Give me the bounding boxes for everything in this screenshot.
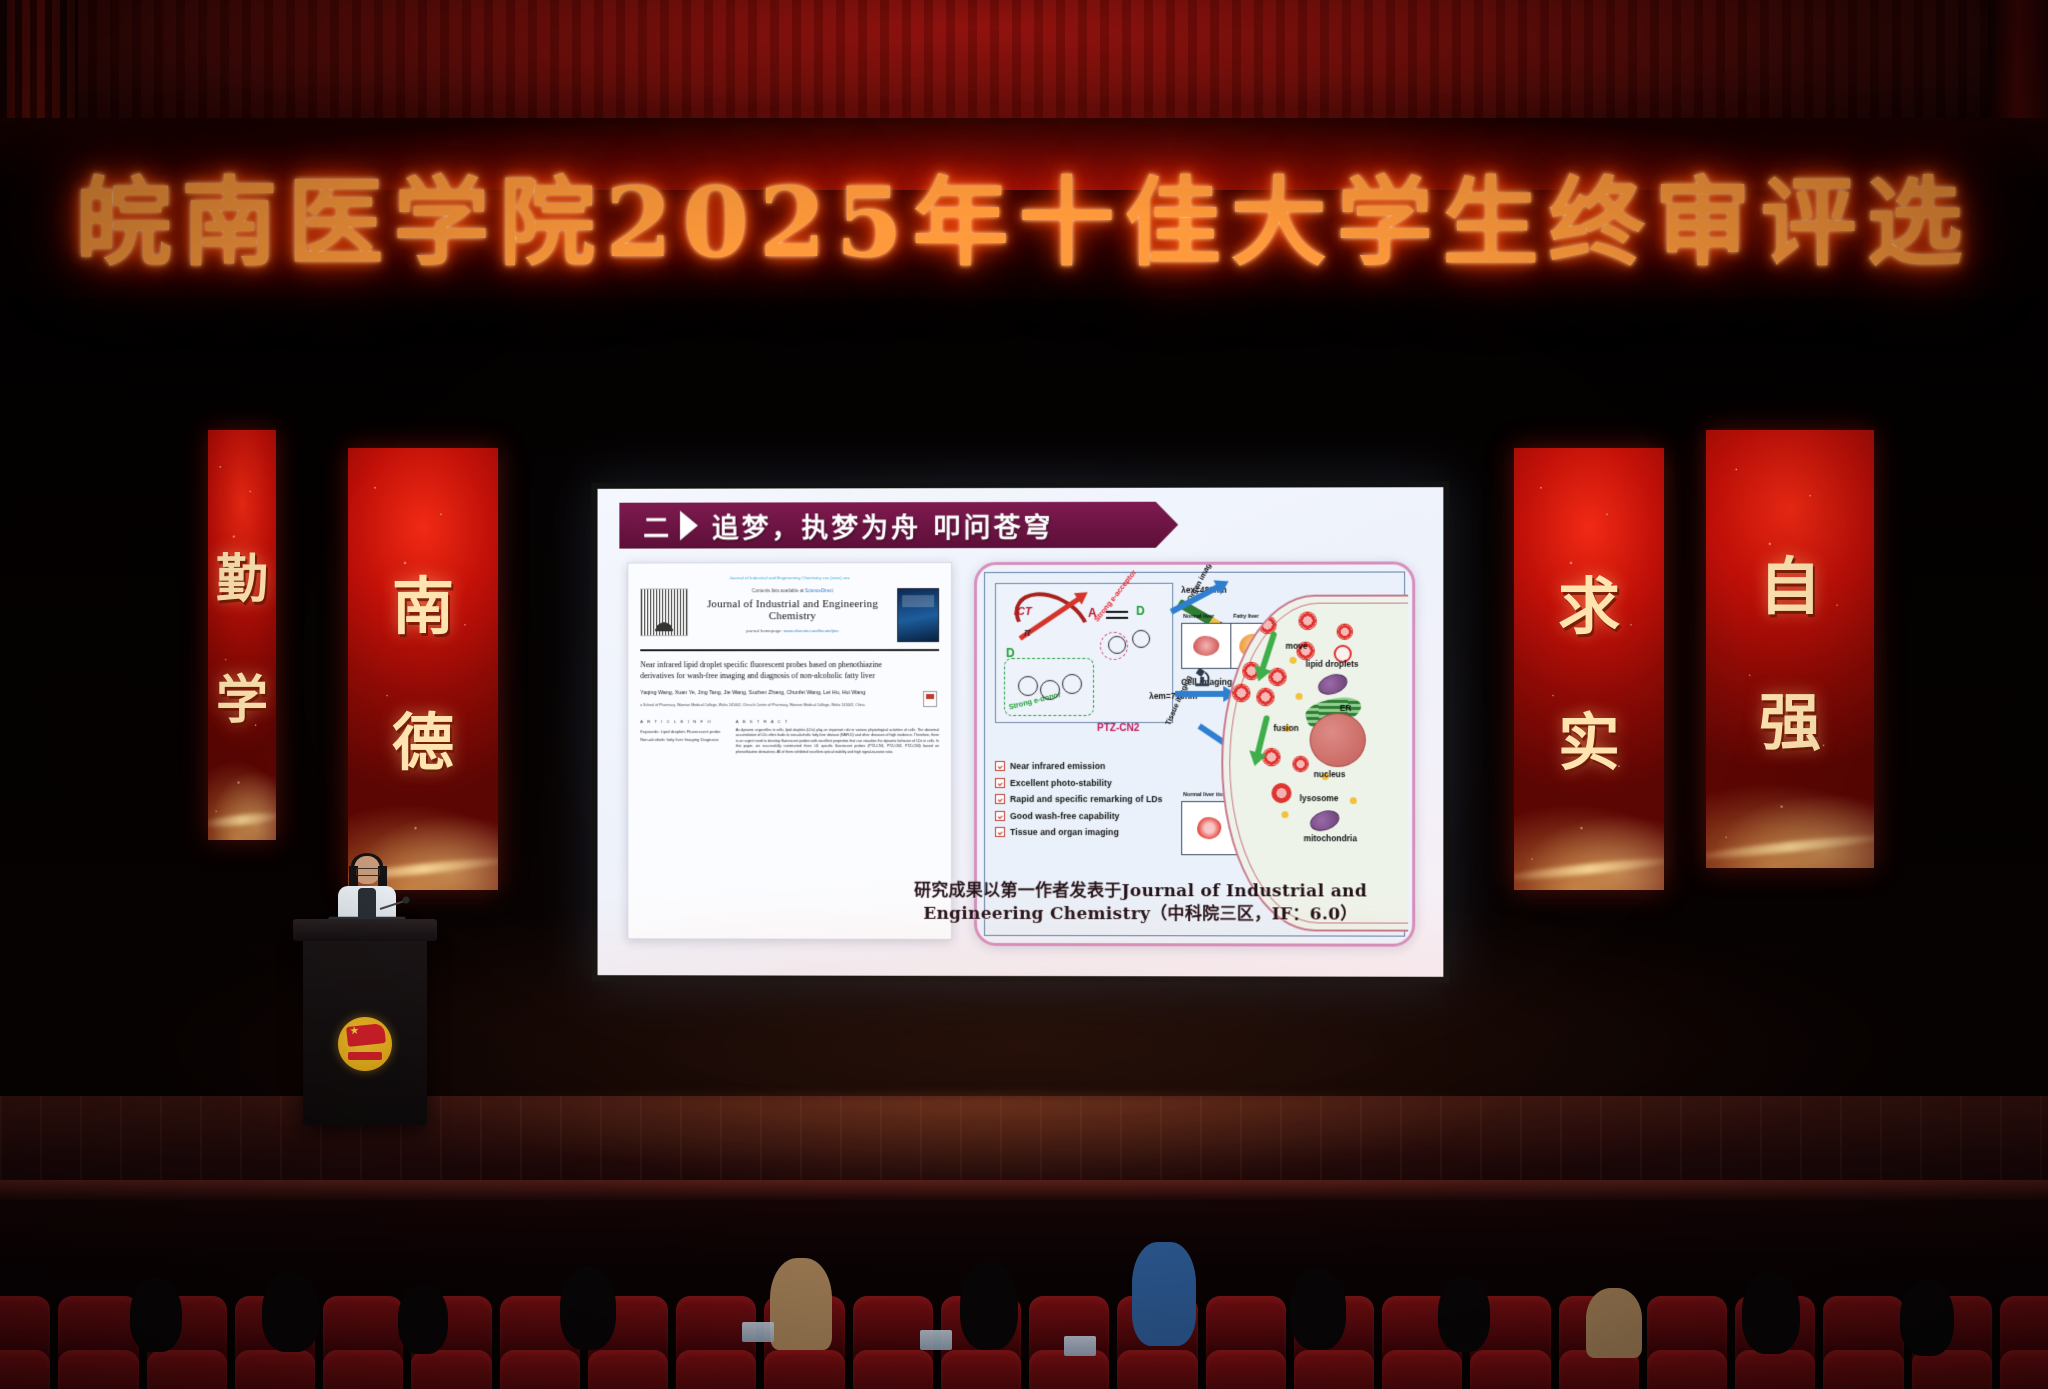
glasses-icon [356,868,380,876]
lysosome-label: lysosome [1300,793,1339,803]
checkbox-icon [995,794,1005,804]
move-label: move [1286,641,1308,651]
seat [58,1350,138,1389]
audience-head [1900,1280,1954,1356]
section-number: 二 [643,507,670,544]
seat [1735,1350,1815,1389]
vesicle-dot-icon [1281,811,1288,818]
audience-head [1742,1272,1800,1354]
led-banner: 皖南医学院2025年十佳大学生终审评选 [0,118,2048,298]
vesicle-dot-icon [1350,797,1357,804]
caption-line-1: 研究成果以第一作者发表于Journal of Industrial and [870,880,1411,904]
seat [235,1350,315,1389]
seat [853,1350,933,1389]
checklist-label: Rapid and specific remarking of LDs [1010,794,1163,804]
seat [323,1350,403,1389]
lipid-droplet-icon [1269,669,1285,685]
audience-head [262,1272,320,1352]
side-panel-left-outer: 勤 学 [208,430,276,840]
paper-divider [640,649,939,651]
available-prefix: Contents lists available at [752,588,804,593]
paper-keywords: Keywords: Lipid droplets Fluorescent pro… [640,728,726,743]
seat [1294,1350,1374,1389]
aromatic-ring-icon [1062,674,1082,694]
checkbox-icon [995,827,1005,837]
panel-char: 南 [392,556,454,646]
masthead-center: Contents lists available at ScienceDirec… [696,588,889,633]
donor-right-label: D [1136,604,1145,618]
side-panel-right-outer: 自 强 [1706,430,1874,868]
checklist-item: Excellent photo-stability [995,777,1203,787]
panel-char: 学 [216,658,268,733]
fusion-label: fusion [1273,723,1298,733]
aromatic-ring-icon [1018,676,1038,696]
seat [500,1350,580,1389]
side-panel-left-inner: 南 德 [348,448,498,890]
ict-label: ICT [1014,606,1032,618]
cell-imaging-arrow-icon [1175,691,1227,697]
checklist-label: Good wash-free capability [1010,810,1120,820]
mitochondria-label: mitochondria [1304,833,1357,843]
checkbox-icon [995,810,1005,820]
aromatic-ring-icon [1040,680,1060,700]
vesicle-dot-icon [1290,657,1297,664]
podium [303,935,427,1125]
mitochondria-icon [1315,671,1350,698]
journal-logo-icon [640,588,688,636]
panel-char: 自 [1759,536,1821,626]
aromatic-ring-icon [1108,636,1126,654]
seat [2000,1350,2048,1389]
panel-char: 强 [1759,672,1821,762]
abstract-heading: A B S T R A C T [736,719,939,724]
paper-affiliations: a School of Pharmacy, Wannan Medical Col… [640,703,939,709]
seat [1823,1350,1903,1389]
seat [764,1350,844,1389]
audience-head [560,1266,616,1350]
section-title: 追梦，执梦为舟 叩问苍穹 [712,505,1054,545]
seat [676,1350,756,1389]
youth-league-emblem-icon [338,1017,392,1071]
feature-checklist: Near infrared emission Excellent photo-s… [995,761,1203,844]
audience-head [960,1262,1018,1350]
chevron-right-icon [680,511,698,541]
audience-head [1290,1268,1346,1350]
audience-laptop-screen [742,1322,774,1342]
lipid-droplet-icon [1300,613,1316,629]
audience-laptop-screen [1064,1336,1096,1356]
sciencedirect-link: ScienceDirect [805,588,833,593]
liver-blob [1193,636,1219,656]
audience-head [398,1284,448,1354]
panel-characters: 勤 学 [208,430,276,840]
seat [1117,1350,1197,1389]
podium-top-surface [293,919,437,941]
mitochondria-icon [1307,807,1342,834]
audience-laptop-screen [920,1330,952,1350]
paper-masthead: Contents lists available at ScienceDirec… [640,588,939,642]
contents-available-line: Contents lists available at ScienceDirec… [696,588,889,593]
nucleus-label: nucleus [1314,769,1346,779]
lipid-droplets-label: lipid droplets [1306,659,1359,669]
journal-homepage-line: journal homepage: www.elsevier.com/locat… [696,628,889,633]
seat [1382,1350,1462,1389]
double-bond-icon [1106,611,1128,619]
audience-head [770,1258,832,1350]
homepage-prefix: journal homepage: [746,628,782,633]
nucleus-icon [1310,713,1366,767]
paper-columns: A R T I C L E I N F O Keywords: Lipid dr… [640,719,939,755]
seat [0,1350,50,1389]
checklist-item: Tissue and organ imaging [995,827,1203,837]
presentation-slide: 二 追梦，执梦为舟 叩问苍穹 Journal of Industrial and… [598,487,1444,977]
er-label: ER [1340,703,1352,713]
panel-characters: 南 德 [348,448,498,890]
fatty-liver-label: Fatty liver [1233,614,1259,620]
checklist-item: Near infrared emission [995,761,1203,771]
checkbox-icon [995,761,1005,771]
slide-caption: 研究成果以第一作者发表于Journal of Industrial and En… [870,880,1411,927]
checklist-label: Near infrared emission [1010,761,1105,771]
seat [1647,1350,1727,1389]
checklist-label: Excellent photo-stability [1010,777,1112,787]
normal-liver-label: Normal liver [1183,614,1214,620]
panel-char: 求 [1558,556,1620,646]
panel-characters: 自 强 [1706,430,1874,868]
aromatic-ring-icon [1132,630,1150,648]
probe-name-label: PTZ-CN2 [1097,723,1139,734]
audience-area [0,1200,2048,1389]
lipid-droplet-icon [1257,689,1273,705]
checklist-item: Good wash-free capability [995,810,1203,820]
caption-line-2: Engineering Chemistry（中科院三区，IF：6.0） [870,903,1411,927]
journal-cover-thumbnail [897,588,939,642]
journal-name: Journal of Industrial and Engineering Ch… [696,598,889,622]
seat [411,1350,491,1389]
projection-screen: 二 追梦，执梦为舟 叩问苍穹 Journal of Industrial and… [592,481,1450,983]
normal-liver-image [1182,624,1230,668]
vesicle-dot-icon [1296,693,1303,700]
seat [588,1350,668,1389]
auditorium-stage-scene: 皖南医学院2025年十佳大学生终审评选 勤 学 南 德 求 实 自 强 [0,0,2048,1389]
flag-shape [346,1023,386,1047]
lysosome-icon [1271,783,1291,803]
pi-label: π [1024,628,1031,639]
homepage-link: www.elsevier.com/locate/jiec [783,628,838,633]
seat [147,1350,227,1389]
paper-info-column: A R T I C L E I N F O Keywords: Lipid dr… [640,719,726,755]
checkbox-icon [995,777,1005,787]
paper-authors: Yaqing Wang, Xuan Ye, Jing Tang, Jie Wan… [640,689,939,698]
paper-running-head: Journal of Industrial and Engineering Ch… [640,575,939,580]
seat-row-front [0,1350,2048,1389]
audience-head [1438,1276,1490,1352]
seat [1206,1350,1286,1389]
panel-char: 实 [1558,692,1620,782]
panel-char: 勤 [216,537,268,612]
seat [941,1350,1021,1389]
molecule-structure-box: ICT π D A D Strong e-acceptor Strong e-d… [995,583,1173,723]
paper-title: Near infrared lipid droplet specific flu… [640,659,939,682]
stage-front-edge [0,1180,2048,1202]
crossmark-icon [923,691,937,707]
banner-title: 皖南医学院2025年十佳大学生终审评选 [75,145,1972,284]
article-info-heading: A R T I C L E I N F O [640,719,726,724]
lipid-droplet-icon [1294,757,1308,771]
emblem-strip-shape [348,1052,382,1060]
paper-abstract: As dynamic organelles in cells, lipid dr… [736,728,939,755]
audience-head [1132,1242,1196,1346]
seat [1470,1350,1550,1389]
checklist-item: Rapid and specific remarking of LDs [995,794,1203,804]
side-panel-right-inner: 求 实 [1514,448,1664,890]
audience-head [130,1278,182,1352]
lipid-droplet-icon [1338,625,1352,639]
paper-abstract-column: A B S T R A C T As dynamic organelles in… [736,719,939,755]
panel-char: 德 [392,692,454,782]
move-arrow-icon [1259,631,1277,671]
checklist-label: Tissue and organ imaging [1010,827,1119,837]
audience-head [1586,1288,1642,1358]
slide-section-header: 二 追梦，执梦为舟 叩问苍穹 [619,502,1178,549]
panel-characters: 求 实 [1514,448,1664,890]
lipid-droplet-icon [1233,685,1249,701]
